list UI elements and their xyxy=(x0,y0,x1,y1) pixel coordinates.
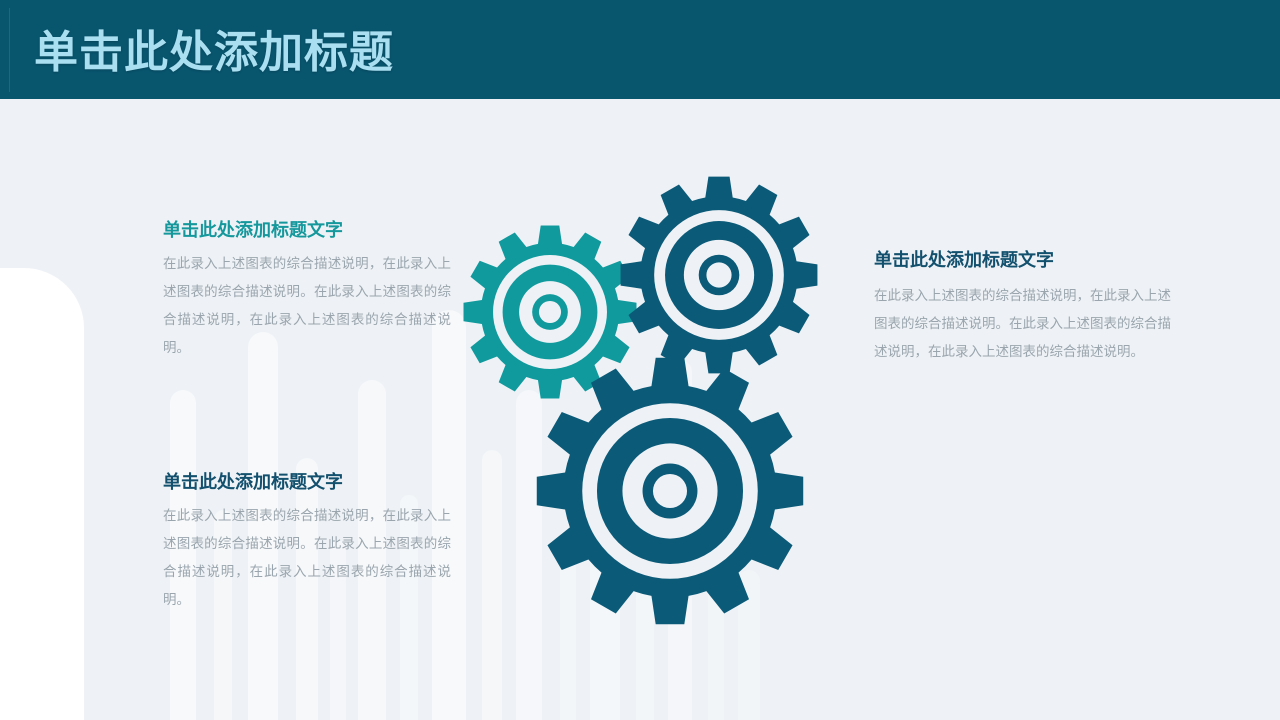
text-block-right-body: 在此录入上述图表的综合描述说明，在此录入上述图表的综合描述说明。在此录入上述图表… xyxy=(874,282,1174,366)
text-block-bottom-left: 单击此处添加标题文字 在此录入上述图表的综合描述说明，在此录入上述图表的综合描述… xyxy=(163,470,451,614)
gear-dark-bottom-icon xyxy=(537,358,803,624)
gear-center-hole xyxy=(706,262,731,287)
text-block-right-title: 单击此处添加标题文字 xyxy=(874,248,1174,272)
text-block-bottom-left-body: 在此录入上述图表的综合描述说明，在此录入上述图表的综合描述说明。在此录入上述图表… xyxy=(163,502,451,614)
text-block-right: 单击此处添加标题文字 在此录入上述图表的综合描述说明，在此录入上述图表的综合描述… xyxy=(874,248,1174,366)
text-block-top-left: 单击此处添加标题文字 在此录入上述图表的综合描述说明，在此录入上述图表的综合描述… xyxy=(163,218,451,362)
gear-center-hole xyxy=(539,301,561,323)
gear-center-hole xyxy=(653,474,687,508)
text-block-top-left-title: 单击此处添加标题文字 xyxy=(163,218,451,242)
text-block-top-left-body: 在此录入上述图表的综合描述说明，在此录入上述图表的综合描述说明。在此录入上述图表… xyxy=(163,250,451,362)
text-block-bottom-left-title: 单击此处添加标题文字 xyxy=(163,470,451,494)
gear-dark-top-right-icon xyxy=(621,177,818,374)
